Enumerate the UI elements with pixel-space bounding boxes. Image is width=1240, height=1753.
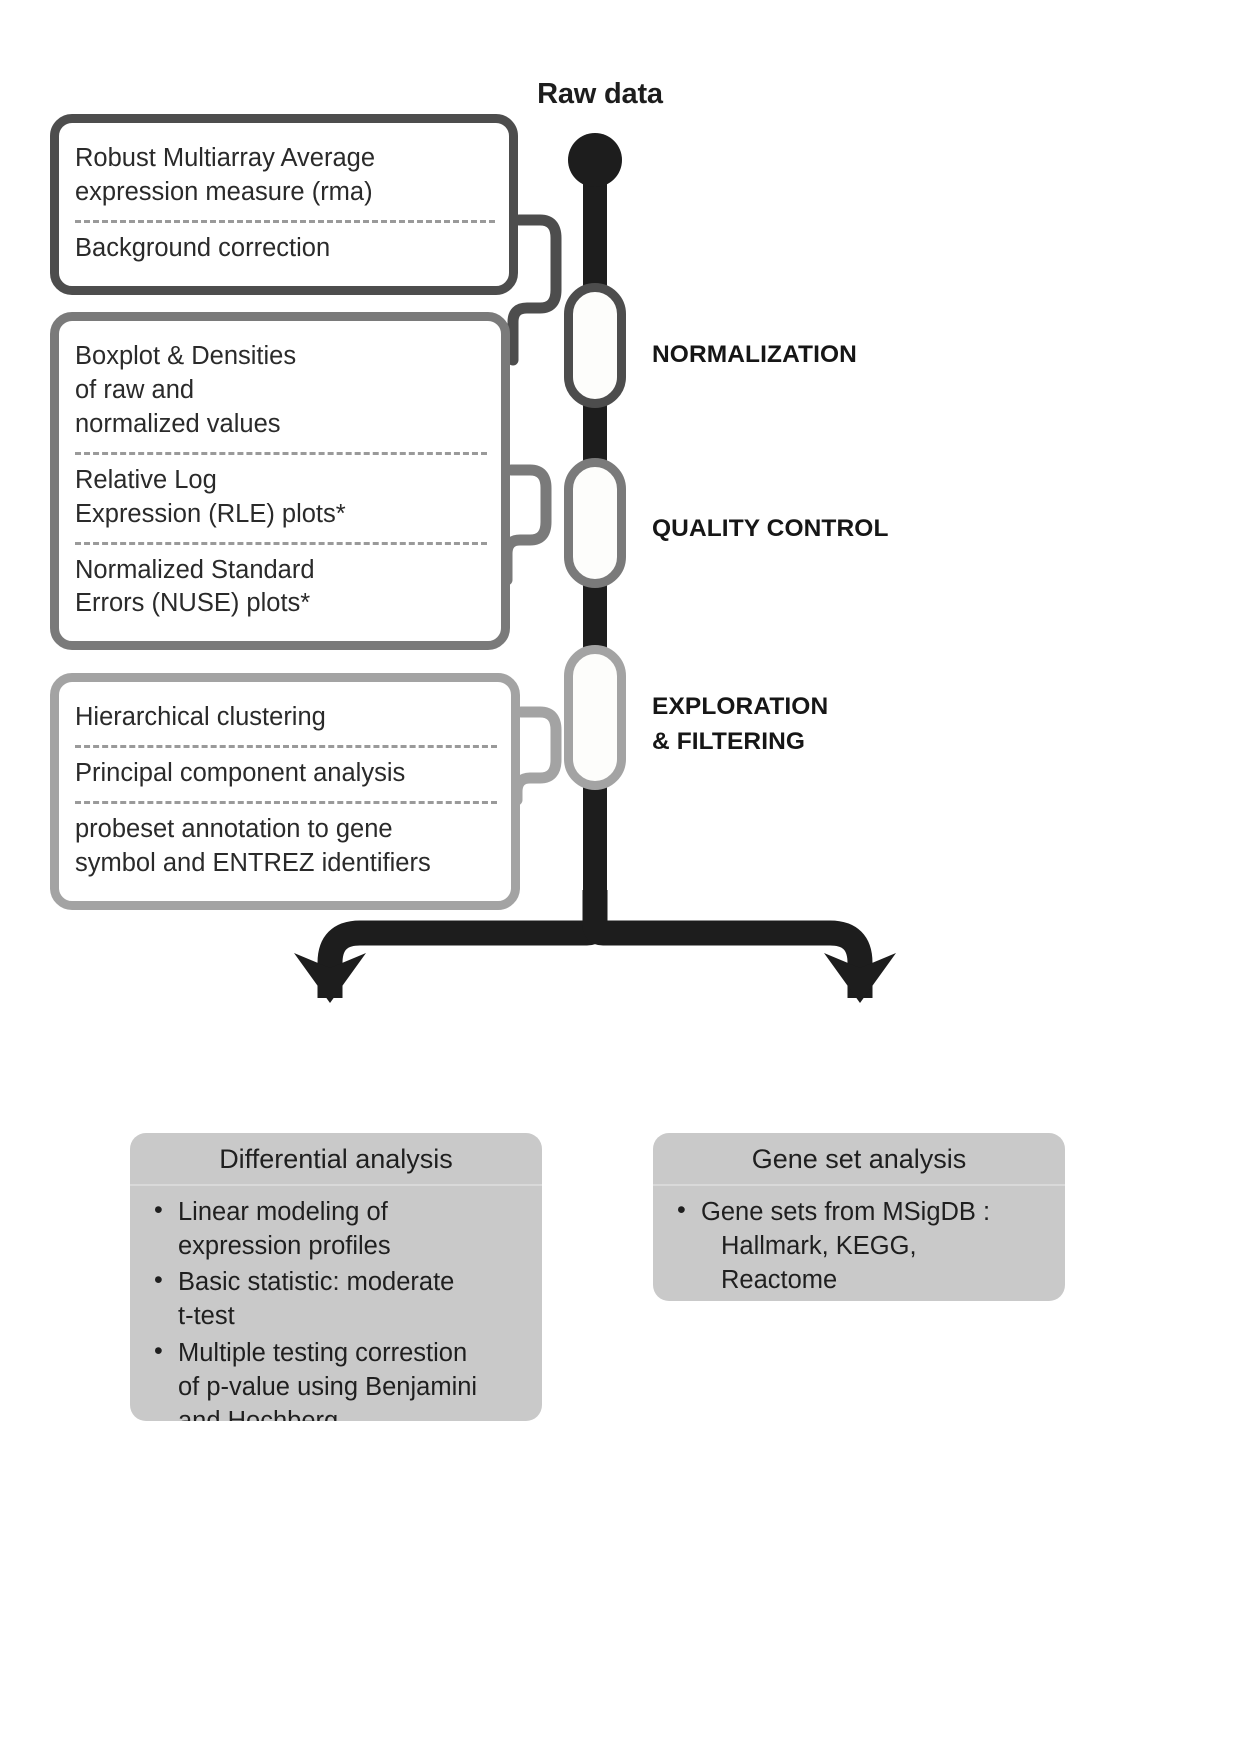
- panel-title: Differential analysis: [130, 1133, 542, 1186]
- bullet-line: Linear modeling of: [178, 1198, 388, 1226]
- bullet-line: and Hochberg: [178, 1404, 530, 1421]
- list-item: Gene sets from MSigDB : Hallmark, KEGG, …: [675, 1195, 1053, 1297]
- card-row-line: Principal component analysis: [75, 757, 497, 791]
- bullet-line: Gene sets from MSigDB :: [701, 1198, 990, 1226]
- panel-gene-set-analysis: Gene set analysis Gene sets from MSigDB …: [653, 1133, 1065, 1301]
- card-row: Normalized Standard Errors (NUSE) plots*: [75, 542, 487, 632]
- bullet-line: Reactome: [701, 1263, 1053, 1297]
- stage-label-exploration-line1: EXPLORATION: [652, 690, 828, 725]
- stage-pill-quality-control: [564, 458, 626, 588]
- card-row-line: Normalized Standard: [75, 554, 487, 588]
- workflow-diagram: Raw data NORMALIZATION QUALITY CONTROL E…: [0, 0, 1240, 1753]
- stage-label-exploration-line2: & FILTERING: [652, 725, 828, 760]
- list-item: Linear modeling of expression profiles: [152, 1195, 530, 1263]
- bullet-line: t-test: [178, 1299, 530, 1333]
- list-item: Basic statistic: moderate t-test: [152, 1265, 530, 1333]
- stage-label-normalization: NORMALIZATION: [652, 338, 857, 373]
- panel-title: Gene set analysis: [653, 1133, 1065, 1186]
- card-row-line: Robust Multiarray Average: [75, 142, 495, 176]
- list-item: Multiple testing correstion of p-value u…: [152, 1336, 530, 1421]
- bullet-line: expression profiles: [178, 1229, 530, 1263]
- card-row: Background correction: [75, 220, 495, 276]
- card-row-line: probeset annotation to gene: [75, 813, 497, 847]
- stage-pill-normalization: [564, 283, 626, 408]
- panel-bullet-list: Linear modeling of expression profiles B…: [130, 1186, 542, 1421]
- panel-differential-analysis: Differential analysis Linear modeling of…: [130, 1133, 542, 1421]
- bullet-line: Hallmark, KEGG,: [701, 1229, 1053, 1263]
- card-row-line: Errors (NUSE) plots*: [75, 587, 487, 621]
- raw-data-label: Raw data: [470, 78, 730, 111]
- card-row-line: Background correction: [75, 232, 495, 266]
- bullet-line: Multiple testing correstion: [178, 1339, 467, 1367]
- card-row-line: Hierarchical clustering: [75, 701, 497, 735]
- card-row: Hierarchical clustering: [75, 692, 497, 745]
- list-item: Gene set test using competitive method C…: [675, 1299, 1053, 1301]
- card-row-line: of raw and: [75, 374, 487, 408]
- card-row-line: Boxplot & Densities: [75, 340, 487, 374]
- card-normalization: Robust Multiarray Average expression mea…: [50, 114, 518, 295]
- bullet-line: Basic statistic: moderate: [178, 1268, 454, 1296]
- card-row: Principal component analysis: [75, 745, 497, 801]
- card-row-line: expression measure (rma): [75, 176, 495, 210]
- card-row-line: normalized values: [75, 408, 487, 442]
- card-row: Boxplot & Densities of raw and normalize…: [75, 331, 487, 452]
- card-row: Relative Log Expression (RLE) plots*: [75, 452, 487, 542]
- card-row-line: symbol and ENTREZ identifiers: [75, 847, 497, 881]
- bullet-line: of p-value using Benjamini: [178, 1370, 530, 1404]
- stage-label-quality-control: QUALITY CONTROL: [652, 512, 889, 547]
- card-row: Robust Multiarray Average expression mea…: [75, 133, 495, 220]
- stage-pill-exploration: [564, 645, 626, 790]
- card-exploration-filtering: Hierarchical clustering Principal compon…: [50, 673, 520, 910]
- card-row-line: Expression (RLE) plots*: [75, 498, 487, 532]
- card-row-line: Relative Log: [75, 464, 487, 498]
- card-row: probeset annotation to gene symbol and E…: [75, 801, 497, 891]
- stage-label-exploration: EXPLORATION & FILTERING: [652, 690, 828, 760]
- panel-bullet-list: Gene sets from MSigDB : Hallmark, KEGG, …: [653, 1186, 1065, 1301]
- card-quality-control: Boxplot & Densities of raw and normalize…: [50, 312, 510, 650]
